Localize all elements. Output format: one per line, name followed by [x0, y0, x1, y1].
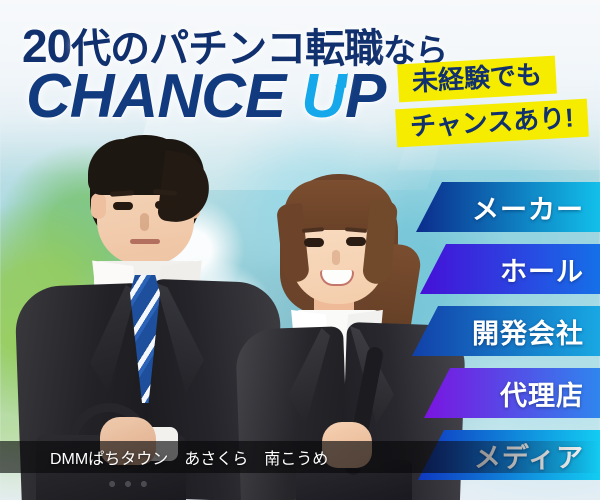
- man-nose: [140, 213, 149, 231]
- advertisement-banner[interactable]: 20代のパチンコ転職なら CHANCE UP 未経験でも チャンスあり! メーカ…: [0, 0, 600, 500]
- briefcase-studs: [106, 479, 150, 489]
- logo-word-chance: CHANCE: [26, 68, 285, 127]
- logo-letter-p: P: [345, 68, 385, 127]
- credit-bar: DMMぱちタウン あさくら 南こうめ: [0, 441, 600, 473]
- credit-text: DMMぱちタウン あさくら 南こうめ: [50, 445, 328, 469]
- logo-letter-u: U: [301, 68, 345, 127]
- category-label-hall: ホール: [500, 250, 584, 289]
- logo-word-up: UP: [301, 68, 385, 127]
- man-mouth: [130, 239, 160, 244]
- man-ear-left: [91, 193, 106, 219]
- woman-eye-left: [304, 238, 324, 247]
- category-label-development-company: 開発会社: [472, 312, 584, 351]
- man-eye-right: [155, 201, 175, 209]
- logo-chance-up: CHANCE UP: [26, 68, 385, 127]
- man-eye-left: [113, 202, 133, 210]
- category-button-agency[interactable]: 代理店: [424, 368, 600, 418]
- woman-eye-right: [346, 237, 366, 246]
- category-button-development-company[interactable]: 開発会社: [412, 306, 600, 356]
- category-button-hall[interactable]: ホール: [420, 244, 600, 294]
- category-label-agency: 代理店: [500, 374, 584, 413]
- category-label-maker: メーカー: [472, 188, 584, 227]
- category-button-maker[interactable]: メーカー: [416, 182, 600, 232]
- man-hair-sweep: [157, 150, 213, 225]
- woman-nose: [332, 250, 340, 265]
